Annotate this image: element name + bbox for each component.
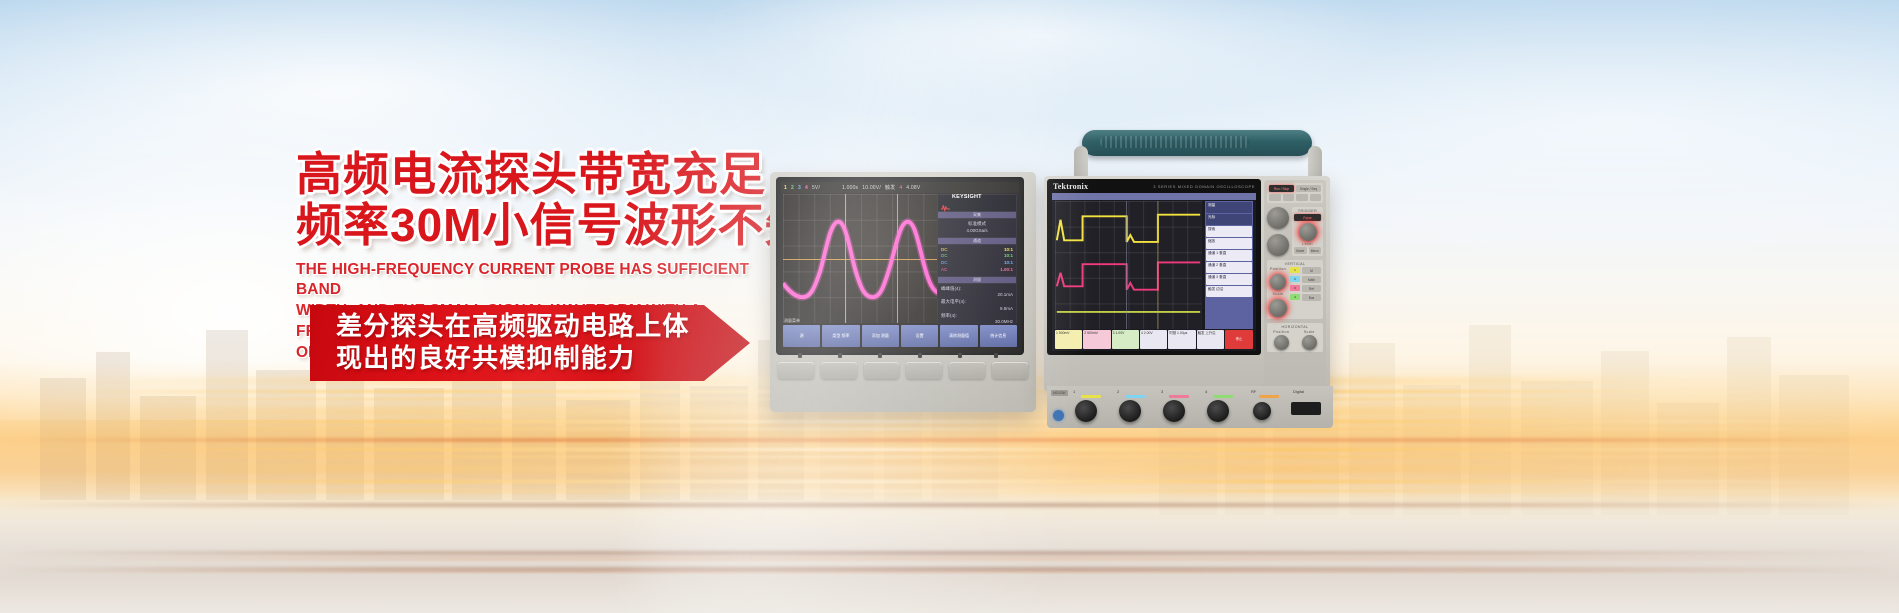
tektronix-button-m[interactable]: M <box>1302 267 1321 274</box>
keysight-trigger-ch: 4 <box>899 185 902 191</box>
keysight-hardkey-3[interactable] <box>864 362 900 379</box>
ribbon-line-1: 差分探头在高频驱动电路上体 <box>336 311 690 343</box>
tektronix-graticule <box>1055 201 1202 329</box>
feature-ribbon: 差分探头在高频驱动电路上体 现出的良好共模抑制能力 <box>310 305 750 381</box>
tektronix-tile-1[interactable]: 测量 <box>1206 202 1252 213</box>
tektronix-bnc-4[interactable] <box>1207 400 1229 422</box>
tektronix-channel-4-button[interactable]: 4 <box>1290 294 1300 300</box>
keysight-chrow-4-value: 1.00:1 <box>1000 267 1013 274</box>
tektronix-trigger-menu-button[interactable]: Menu <box>1309 247 1322 254</box>
keysight-softkey-6[interactable]: 统计信息 <box>980 325 1017 347</box>
keysight-sample: 10.00V/ <box>862 185 881 191</box>
keysight-ch1: 1 <box>784 185 787 191</box>
keysight-acq-mode: 标准模式 <box>941 221 1013 228</box>
tektronix-tile-2[interactable]: 光标 <box>1206 214 1252 225</box>
tektronix-vertical-position-label: Position <box>1270 267 1286 271</box>
tektronix-bezel: Tektronix 3 SERIES MIXED DOMAIN OSCILLOS… <box>1047 179 1261 355</box>
keysight-measure-menu-label: 测量菜单 <box>784 318 800 324</box>
tektronix-trigger-force-button[interactable]: Force <box>1294 214 1321 221</box>
keysight-screen: 1 2 3 4 5V/ 1.000s 10.00V/ 触发 4 4.08V <box>781 182 1019 351</box>
tektronix-tile-6[interactable]: 通道 2 垂直 <box>1206 262 1252 273</box>
tektronix-multipurpose-knob-b[interactable] <box>1267 234 1289 256</box>
tektronix-horizontal-scale-knob[interactable] <box>1302 335 1317 350</box>
tektronix-channel-2-button[interactable]: 2 <box>1290 276 1300 282</box>
tektronix-badge-3[interactable]: 3 1.00V <box>1112 330 1139 349</box>
keysight-chrow-3-value: 10:1 <box>1004 260 1013 267</box>
keysight-side-panel: KEYSIGHT TECHNOLOGIES 采集 标准模式 4.00GSa/s … <box>937 194 1017 323</box>
tektronix-vertical-scale-label: Scale <box>1273 292 1284 296</box>
tektronix-power-led <box>1053 410 1064 421</box>
keysight-wave-mark <box>941 199 950 208</box>
ribbon-line-2: 现出的良好共模抑制能力 <box>336 343 690 375</box>
tektronix-aux-button-4[interactable] <box>1310 194 1322 201</box>
oscilloscope-group: 1 2 3 4 5V/ 1.000s 10.00V/ 触发 4 4.08V <box>770 120 1870 500</box>
tektronix-digital-port[interactable] <box>1291 402 1321 415</box>
keysight-section-header-channel: 通道 <box>938 238 1016 244</box>
keysight-section-header-acquire: 采集 <box>938 212 1016 218</box>
tektronix-button-ref[interactable]: Ref <box>1302 285 1321 292</box>
tektronix-channel-1-button[interactable]: 1 <box>1290 267 1300 273</box>
keysight-graticule <box>783 194 939 323</box>
tektronix-horizontal-section: HORIZONTAL Position Scale <box>1267 323 1323 352</box>
tektronix-conn-label-4: 4 <box>1205 389 1207 394</box>
keysight-logo-text: KEYSIGHT <box>952 194 982 200</box>
tektronix-side-panel: 测量 光标 搜索 缩放 通道 1 垂直 通道 2 垂直 通道 3 垂直 触发 边… <box>1205 201 1253 329</box>
tektronix-bnc-1[interactable] <box>1075 400 1097 422</box>
keysight-ch3: 3 <box>798 185 801 191</box>
tektronix-trigger-level-knob[interactable] <box>1299 223 1317 241</box>
keysight-hardkey-1[interactable] <box>778 362 814 379</box>
tektronix-connector-row: 1 2 3 4 RF Digital <box>1047 386 1333 428</box>
subtitle-line-1: THE HIGH-FREQUENCY CURRENT PROBE HAS SUF… <box>296 260 766 302</box>
tektronix-tile-3[interactable]: 搜索 <box>1206 226 1252 237</box>
keysight-topbar: 1 2 3 4 5V/ 1.000s 10.00V/ 触发 4 4.08V <box>781 182 1019 193</box>
keysight-chrow-2-label: DC <box>941 253 948 260</box>
tektronix-horizontal-position-label: Position <box>1273 330 1289 334</box>
tektronix-runstop-section: Run / Stop Single / Seq <box>1267 183 1323 203</box>
keysight-section-acquire: 标准模式 4.00GSa/s <box>938 219 1016 237</box>
tektronix-module-label: MDO3K <box>1051 390 1068 396</box>
keysight-section-measure: 峰峰值(4): 20.1mA 最大电平(4): 9.8mA 频率(4): 30.… <box>938 284 1016 329</box>
keysight-meas-1-label: 峰峰值(4): <box>941 286 1013 293</box>
tektronix-bottom-bar: 1 500mV 2 500mV 3 1.00V 4 2.00V 时基 1.00µ… <box>1055 330 1253 349</box>
tektronix-badge-5[interactable]: 时基 1.00µs <box>1168 330 1195 349</box>
tektronix-conn-label-digital: Digital <box>1293 389 1304 394</box>
keysight-ch4: 4 <box>805 185 808 191</box>
tektronix-trigger-section: TRIGGER Force Level Mode Menu <box>1292 207 1323 256</box>
tektronix-handle-grip <box>1100 136 1250 148</box>
keysight-acq-rate: 4.00GSa/s <box>941 228 1013 235</box>
tektronix-run-stop-button[interactable]: Run / Stop <box>1269 185 1294 192</box>
headline-line-2: 频率30M小信号波形不失真 <box>296 201 766 250</box>
keysight-chrow-3-label: DC <box>941 260 948 267</box>
tektronix-badge-6[interactable]: 触发 上升沿 <box>1197 330 1224 349</box>
tektronix-top-strip <box>1052 193 1256 200</box>
keysight-chrow-4-label: AC <box>941 267 947 274</box>
promo-banner: 高频电流探头带宽充足 频率30M小信号波形不失真 THE HIGH-FREQUE… <box>0 0 1899 613</box>
ribbon-text: 差分探头在高频驱动电路上体 现出的良好共模抑制能力 <box>336 311 690 374</box>
keysight-trigger-label: 触发 <box>885 184 895 191</box>
keysight-meas-3-label: 频率(4): <box>941 313 1013 320</box>
keysight-softkey-1[interactable]: 源 <box>783 325 820 347</box>
tektronix-badge-2[interactable]: 2 500mV <box>1083 330 1110 349</box>
keysight-softkey-2[interactable]: 类型 频率 <box>822 325 859 347</box>
tektronix-conn-label-rf: RF <box>1251 389 1256 394</box>
keysight-volts-div: 5V/ <box>812 185 820 191</box>
tektronix-model-label: 3 SERIES MIXED DOMAIN OSCILLOSCOPE <box>1153 184 1255 189</box>
tektronix-aux-button-1[interactable] <box>1269 194 1281 201</box>
tektronix-stop-badge[interactable]: 停止 <box>1225 330 1253 349</box>
tektronix-horizontal-title: HORIZONTAL <box>1269 325 1321 329</box>
keysight-timebase: 1.000s <box>842 185 858 191</box>
keysight-chrow-2-value: 10:1 <box>1004 253 1013 260</box>
tektronix-horizontal-scale-label: Scale <box>1302 330 1317 334</box>
tektronix-waveforms <box>1055 201 1202 329</box>
tektronix-badge-1[interactable]: 1 500mV <box>1055 330 1082 349</box>
keysight-waveform <box>783 194 939 323</box>
keysight-meas-2-label: 最大电平(4): <box>941 299 1013 306</box>
tektronix-trigger-title: TRIGGER <box>1294 209 1321 213</box>
tektronix-single-seq-button[interactable]: Single / Seq <box>1296 185 1321 192</box>
tektronix-rf-connector[interactable] <box>1253 402 1271 420</box>
tektronix-screen: 测量 光标 搜索 缩放 通道 1 垂直 通道 2 垂直 通道 3 垂直 触发 边… <box>1052 193 1256 351</box>
tektronix-logo: Tektronix <box>1053 182 1088 191</box>
tektronix-control-panel: Run / Stop Single / Seq <box>1264 180 1326 388</box>
tektronix-tile-8[interactable]: 触发 边沿 <box>1206 286 1252 297</box>
tektronix-trigger-mode-button[interactable]: Mode <box>1294 247 1307 254</box>
keysight-softkey-4[interactable]: 设置 <box>901 325 938 347</box>
tektronix-oscilloscope: Tektronix 3 SERIES MIXED DOMAIN OSCILLOS… <box>1038 130 1338 430</box>
tektronix-trigger-level-label: Level <box>1294 242 1321 246</box>
tektronix-button-bus[interactable]: Bus <box>1302 294 1321 301</box>
tektronix-handle[interactable] <box>1082 130 1312 156</box>
tektronix-conn-label-1: 1 <box>1073 389 1075 394</box>
tektronix-badge-4[interactable]: 4 2.00V <box>1140 330 1167 349</box>
keysight-softkey-5[interactable]: 清除测量值 <box>940 325 977 347</box>
keysight-hardkey-4[interactable] <box>906 362 942 379</box>
tektronix-aux-button-3[interactable] <box>1296 194 1308 201</box>
keysight-bezel: 1 2 3 4 5V/ 1.000s 10.00V/ 触发 4 4.08V <box>776 177 1024 355</box>
keysight-hardkey-row <box>778 362 1028 382</box>
tektronix-multipurpose-knob-a[interactable] <box>1267 207 1289 229</box>
tektronix-tile-5[interactable]: 通道 1 垂直 <box>1206 250 1252 261</box>
keysight-ch2: 2 <box>791 185 794 191</box>
tektronix-tile-4[interactable]: 缩放 <box>1206 238 1252 249</box>
tektronix-vertical-section: VERTICAL Position Scale 1M 2Math <box>1267 260 1323 319</box>
keysight-logo: KEYSIGHT TECHNOLOGIES <box>938 195 1016 211</box>
tektronix-horizontal-position-knob[interactable] <box>1274 335 1289 350</box>
tektronix-bnc-3[interactable] <box>1163 400 1185 422</box>
keysight-section-header-measure: 测量 <box>938 277 1016 283</box>
keysight-trigger-level: 4.08V <box>906 185 920 191</box>
tektronix-bnc-2[interactable] <box>1119 400 1141 422</box>
tektronix-vertical-scale-knob[interactable] <box>1269 299 1287 317</box>
keysight-section-channel: DC10:1 DC10:1 DC10:1 AC1.00:1 <box>938 245 1016 276</box>
keysight-meas-2-value: 9.8mA <box>941 306 1013 313</box>
keysight-softkey-row: 源 类型 频率 添加 测量 设置 清除测量值 统计信息 <box>783 325 1017 347</box>
tektronix-channel-3-button[interactable]: 3 <box>1290 285 1300 291</box>
tektronix-tile-7[interactable]: 通道 3 垂直 <box>1206 274 1252 285</box>
tektronix-vertical-position-knob[interactable] <box>1270 274 1286 290</box>
road-band <box>0 493 1899 613</box>
keysight-chrow-1-label: DC <box>941 247 948 254</box>
keysight-chrow-1-value: 10:1 <box>1004 247 1013 254</box>
tektronix-conn-label-2: 2 <box>1117 389 1119 394</box>
keysight-meas-1-value: 20.1mA <box>941 292 1013 299</box>
tektronix-aux-button-2[interactable] <box>1283 194 1295 201</box>
keysight-oscilloscope: 1 2 3 4 5V/ 1.000s 10.00V/ 触发 4 4.08V <box>770 172 1036 412</box>
keysight-hardkey-6[interactable] <box>992 362 1028 379</box>
tektronix-button-math[interactable]: Math <box>1302 276 1321 283</box>
keysight-hardkey-2[interactable] <box>821 362 857 379</box>
tektronix-conn-label-3: 3 <box>1161 389 1163 394</box>
keysight-softkey-3[interactable]: 添加 测量 <box>862 325 899 347</box>
tektronix-body: Tektronix 3 SERIES MIXED DOMAIN OSCILLOS… <box>1044 176 1330 392</box>
headline-line-1: 高频电流探头带宽充足 <box>296 150 766 199</box>
tektronix-vertical-title: VERTICAL <box>1269 262 1321 266</box>
keysight-hardkey-5[interactable] <box>949 362 985 379</box>
